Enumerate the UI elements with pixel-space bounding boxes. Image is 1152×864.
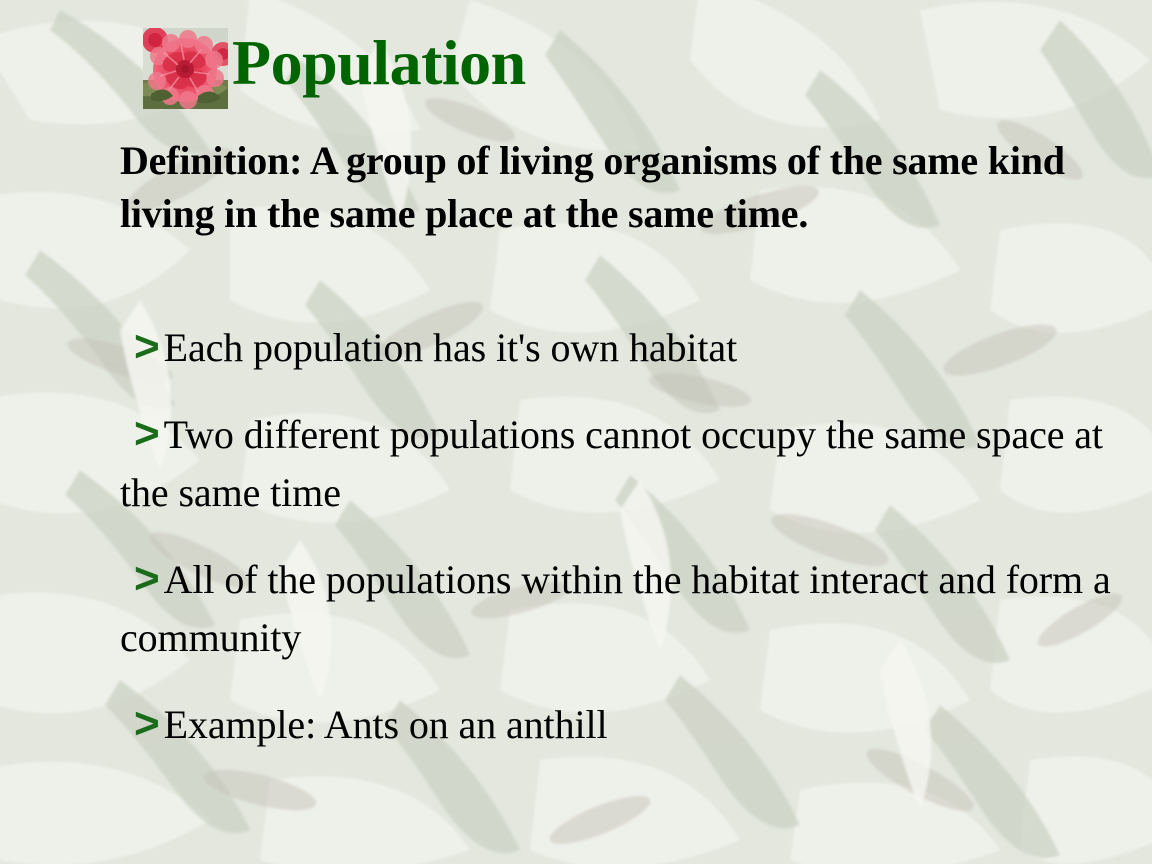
list-item-label: Each population has it's own habitat	[164, 325, 738, 370]
list-item: >Each population has it's own habitat	[120, 318, 1152, 377]
list-item: >Two different populations cannot occupy…	[120, 405, 1152, 522]
chevron-right-bullet-icon: >	[134, 695, 160, 753]
list-item-label: Two different populations cannot occupy …	[120, 412, 1103, 515]
chevron-right-bullet-icon: >	[134, 550, 160, 608]
chevron-right-bullet-icon: >	[134, 318, 160, 376]
bullet-list: >Each population has it's own habitat >T…	[120, 318, 1152, 754]
definition-paragraph: Definition: A group of living organisms …	[120, 134, 1080, 240]
list-item-label: All of the populations within the habita…	[120, 557, 1111, 660]
carnation-flower-image	[143, 28, 228, 109]
page-title: Population	[232, 24, 526, 102]
list-item: >All of the populations within the habit…	[120, 550, 1152, 667]
slide-canvas: Population Definition: A group of living…	[0, 0, 1152, 864]
slide-header: Population	[0, 0, 1152, 120]
chevron-right-bullet-icon: >	[134, 405, 160, 463]
list-item: >Example: Ants on an anthill	[120, 695, 1152, 754]
list-item-label: Example: Ants on an anthill	[164, 702, 608, 747]
